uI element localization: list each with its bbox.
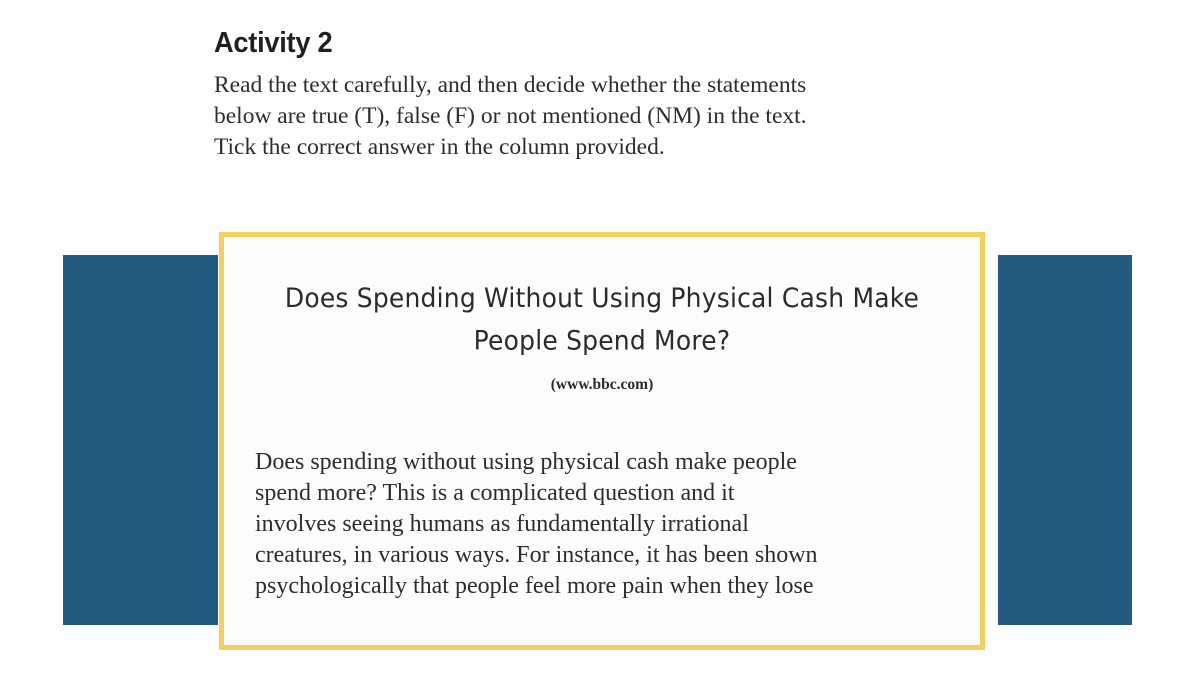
article-body-line: psychologically that people feel more pa… — [255, 571, 980, 602]
page-title: Activity 2 — [214, 26, 957, 60]
article-body-line: Does spending without using physical cas… — [255, 447, 980, 478]
activity-instructions: Read the text carefully, and then decide… — [214, 70, 989, 163]
instruction-line: below are true (T), false (F) or not men… — [214, 101, 989, 132]
article-body-text: Does spending without using physical cas… — [224, 395, 980, 602]
blue-banner-bar-left — [63, 255, 218, 625]
article-body-line: creatures, in various ways. For instance… — [255, 540, 980, 571]
instruction-line: Tick the correct answer in the column pr… — [214, 132, 989, 163]
blue-banner-bar-right — [998, 255, 1132, 625]
activity-heading-block: Activity 2 Read the text carefully, and … — [214, 26, 1004, 163]
article-headline-line: Does Spending Without Using Physical Cas… — [284, 277, 920, 319]
article-body-line: spend more? This is a complicated questi… — [255, 478, 980, 509]
article-headline: Does Spending Without Using Physical Cas… — [224, 237, 980, 362]
reading-passage-content: Does Spending Without Using Physical Cas… — [224, 237, 980, 645]
article-body-line: involves seeing humans as fundamentally … — [255, 509, 980, 540]
article-headline-line: People Spend More? — [284, 320, 920, 362]
reading-passage-card: Does Spending Without Using Physical Cas… — [219, 232, 985, 650]
instruction-line: Read the text carefully, and then decide… — [214, 70, 989, 101]
